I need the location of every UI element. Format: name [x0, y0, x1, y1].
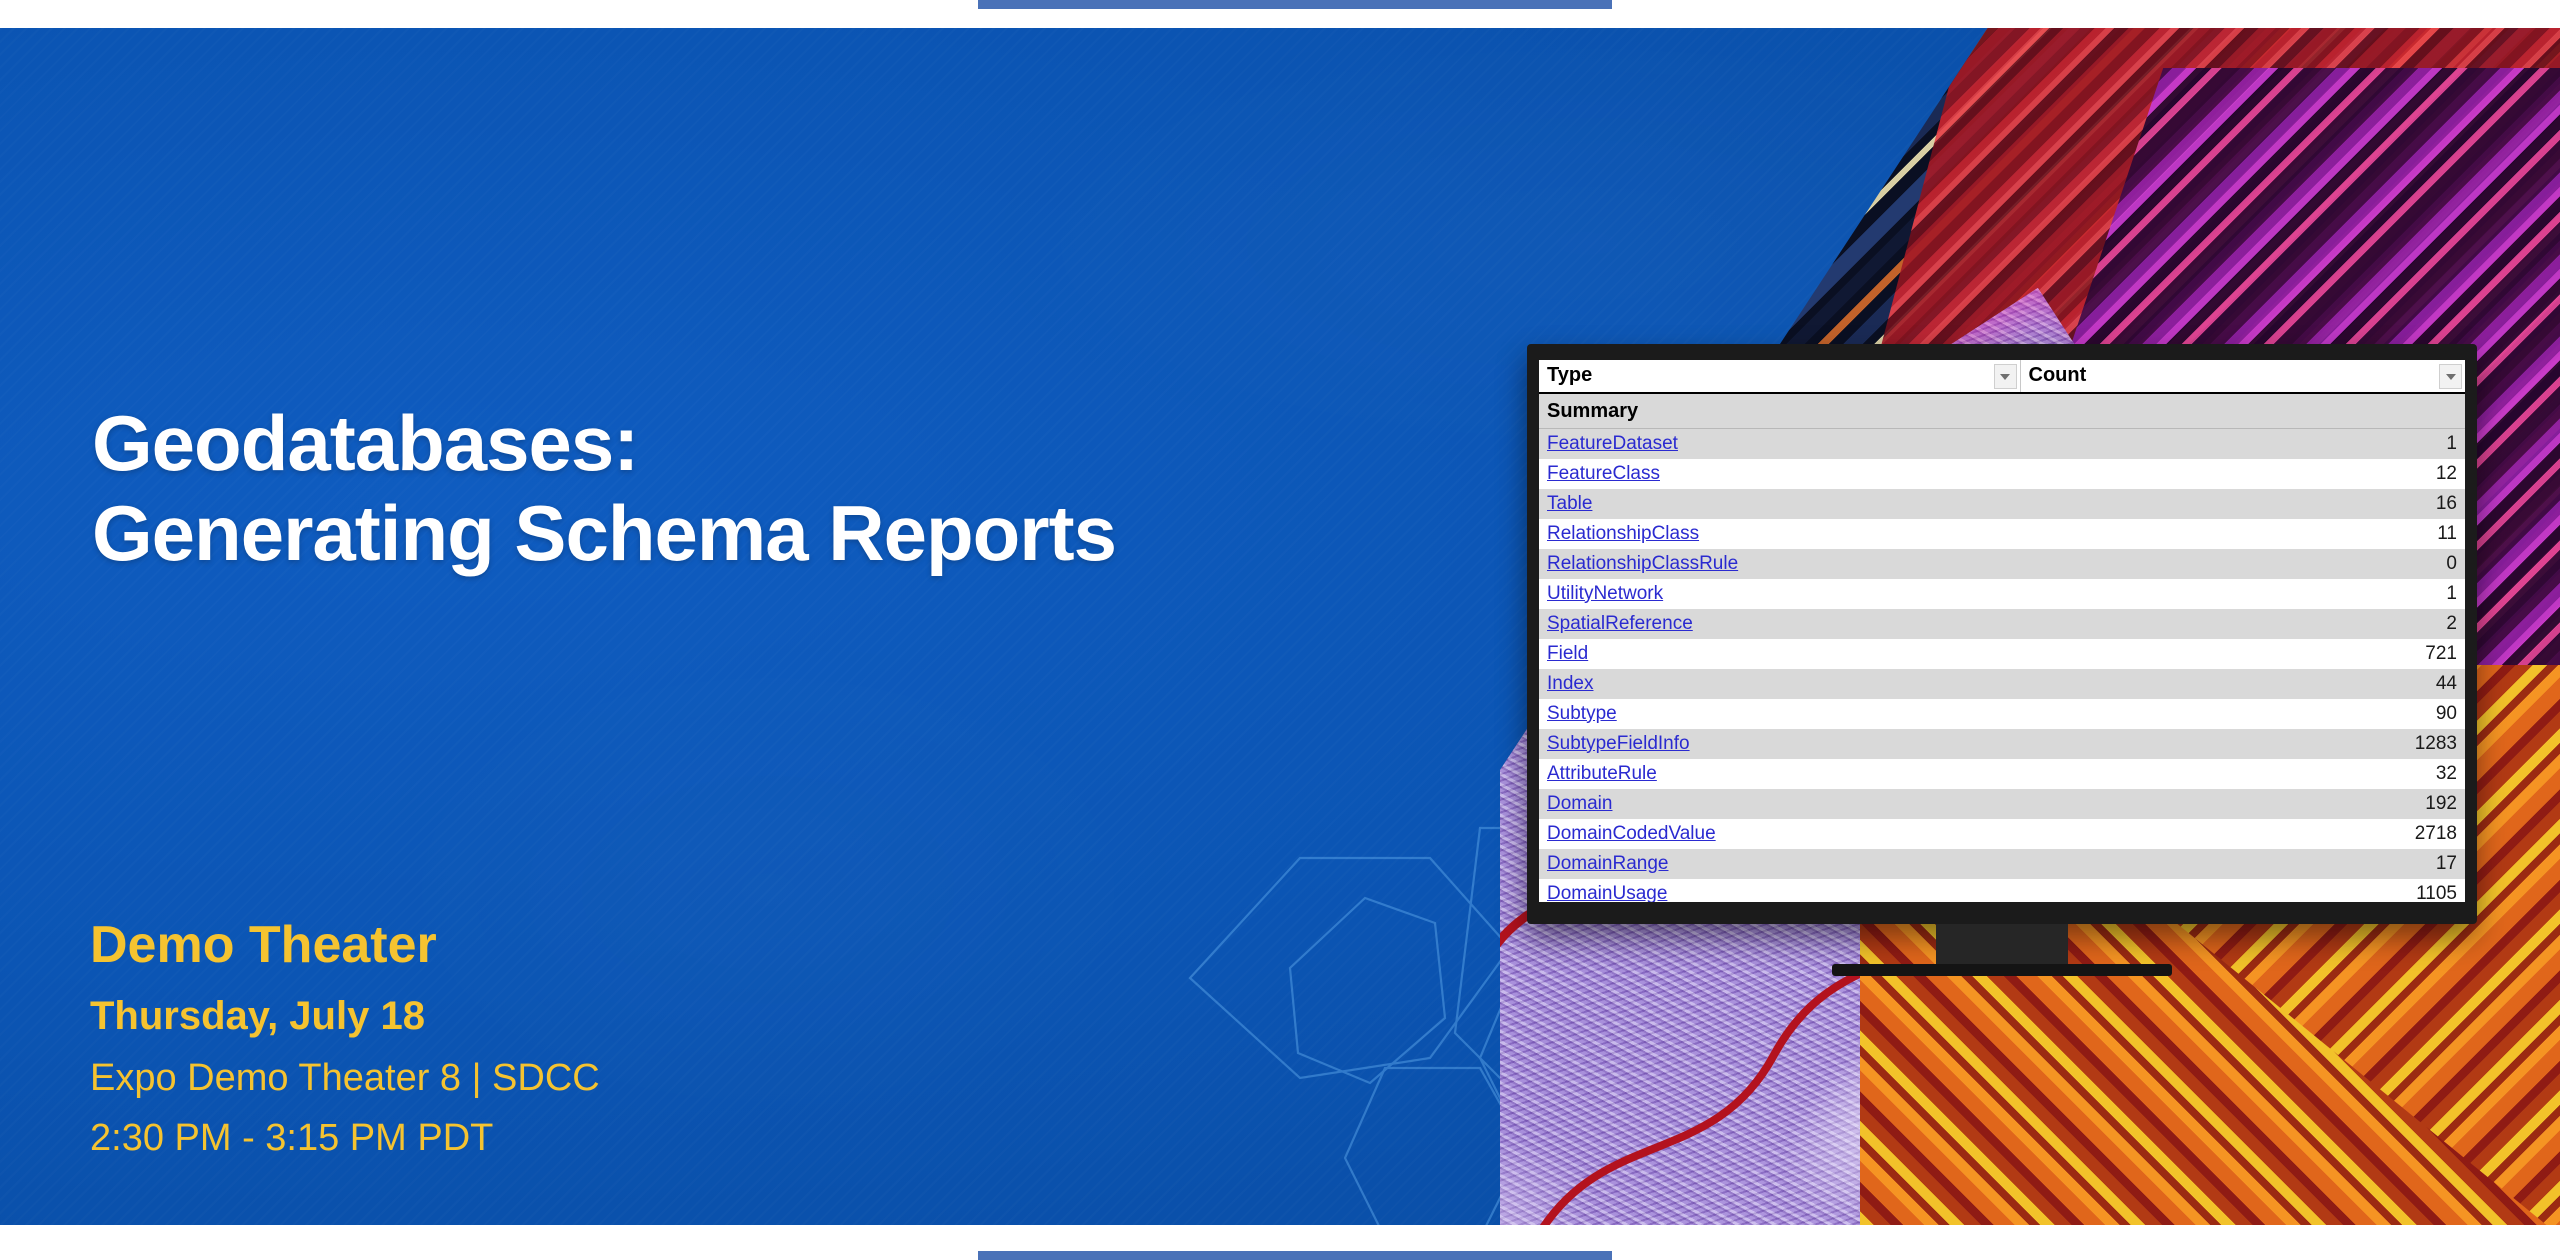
- screenshot-root: Geodatabases: Generating Schema Reports …: [0, 0, 2560, 1260]
- column-header-type-label: Type: [1547, 364, 1592, 386]
- table-row: DomainUsage1105: [1539, 879, 2465, 902]
- monitor-mockup: Summary Type Count: [1527, 344, 2477, 924]
- cell-type: DomainRange: [1539, 849, 2020, 879]
- cell-type: DomainUsage: [1539, 879, 2020, 902]
- table-row: SubtypeFieldInfo1283: [1539, 729, 2465, 759]
- chevron-down-icon-type-filter[interactable]: [1994, 364, 2017, 389]
- cell-type: Field: [1539, 639, 2020, 669]
- monitor-stand-base: [1832, 964, 2172, 976]
- presentation-slide: Geodatabases: Generating Schema Reports …: [0, 28, 2560, 1225]
- table-row: UtilityNetwork1: [1539, 579, 2465, 609]
- cell-type: RelationshipClass: [1539, 519, 2020, 549]
- schema-report-table: Summary Type Count: [1539, 360, 2465, 902]
- table-row: Domain192: [1539, 789, 2465, 819]
- cell-type: SubtypeFieldInfo: [1539, 729, 2020, 759]
- table-row: RelationshipClassRule0: [1539, 549, 2465, 579]
- report-title-row: Summary: [1539, 393, 2465, 429]
- session-venue: Expo Demo Theater 8 | SDCC: [90, 1058, 990, 1098]
- cell-count: 192: [2020, 789, 2465, 819]
- session-type: Demo Theater: [90, 918, 990, 973]
- cell-type: Index: [1539, 669, 2020, 699]
- title-line-1: Geodatabases:: [92, 399, 638, 487]
- chevron-down-icon-count-filter[interactable]: [2439, 364, 2462, 389]
- monitor-stand-neck: [1936, 924, 2068, 966]
- monitor-screen: Summary Type Count: [1539, 360, 2465, 902]
- type-link[interactable]: SpatialReference: [1547, 613, 1693, 634]
- cell-type: SpatialReference: [1539, 609, 2020, 639]
- slide-viewer-bar-bottom: [978, 1251, 1612, 1260]
- cell-type: AttributeRule: [1539, 759, 2020, 789]
- table-row: DomainRange17: [1539, 849, 2465, 879]
- cell-count: 2: [2020, 609, 2465, 639]
- table-row: Index44: [1539, 669, 2465, 699]
- type-link[interactable]: Index: [1547, 673, 1593, 694]
- cell-type: Table: [1539, 489, 2020, 519]
- type-link[interactable]: Subtype: [1547, 703, 1617, 724]
- type-link[interactable]: SubtypeFieldInfo: [1547, 733, 1690, 754]
- cell-count: 11: [2020, 519, 2465, 549]
- cell-count: 2718: [2020, 819, 2465, 849]
- column-header-count-label: Count: [2029, 364, 2087, 386]
- type-link[interactable]: FeatureClass: [1547, 463, 1660, 484]
- table-row: AttributeRule32: [1539, 759, 2465, 789]
- type-link[interactable]: UtilityNetwork: [1547, 583, 1663, 604]
- cell-count: 721: [2020, 639, 2465, 669]
- table-body: FeatureDataset1FeatureClass12Table16Rela…: [1539, 429, 2465, 903]
- type-link[interactable]: DomainRange: [1547, 853, 1668, 874]
- type-link[interactable]: Table: [1547, 493, 1592, 514]
- cell-count: 44: [2020, 669, 2465, 699]
- table-row: Subtype90: [1539, 699, 2465, 729]
- table-row: SpatialReference2: [1539, 609, 2465, 639]
- cell-count: 16: [2020, 489, 2465, 519]
- type-link[interactable]: RelationshipClassRule: [1547, 553, 1738, 574]
- cell-count: 90: [2020, 699, 2465, 729]
- cell-type: FeatureDataset: [1539, 429, 2020, 460]
- type-link[interactable]: DomainCodedValue: [1547, 823, 1716, 844]
- cell-count: 1: [2020, 579, 2465, 609]
- title-line-2: Generating Schema Reports: [92, 488, 1472, 578]
- report-title: Summary: [1539, 393, 2465, 429]
- column-header-count: Count: [2020, 360, 2465, 393]
- type-link[interactable]: RelationshipClass: [1547, 523, 1699, 544]
- session-time: 2:30 PM - 3:15 PM PDT: [90, 1118, 990, 1158]
- cell-type: DomainCodedValue: [1539, 819, 2020, 849]
- session-date: Thursday, July 18: [90, 995, 990, 1037]
- event-details: Demo Theater Thursday, July 18 Expo Demo…: [90, 918, 990, 1158]
- type-link[interactable]: AttributeRule: [1547, 763, 1657, 784]
- cell-count: 1283: [2020, 729, 2465, 759]
- page-title: Geodatabases: Generating Schema Reports: [92, 398, 1472, 579]
- type-link[interactable]: Field: [1547, 643, 1588, 664]
- slide-viewer-bar-top: [978, 0, 1612, 9]
- type-link[interactable]: DomainUsage: [1547, 883, 1667, 903]
- type-link[interactable]: Domain: [1547, 793, 1612, 814]
- cell-count: 1105: [2020, 879, 2465, 902]
- cell-count: 32: [2020, 759, 2465, 789]
- cell-type: Domain: [1539, 789, 2020, 819]
- cell-count: 12: [2020, 459, 2465, 489]
- cell-type: Subtype: [1539, 699, 2020, 729]
- cell-type: RelationshipClassRule: [1539, 549, 2020, 579]
- cell-count: 0: [2020, 549, 2465, 579]
- table-row: RelationshipClass11: [1539, 519, 2465, 549]
- type-link[interactable]: FeatureDataset: [1547, 433, 1678, 454]
- table-row: Table16: [1539, 489, 2465, 519]
- table-header-row: Type Count: [1539, 360, 2465, 393]
- table-row: Field721: [1539, 639, 2465, 669]
- cell-count: 17: [2020, 849, 2465, 879]
- cell-count: 1: [2020, 429, 2465, 460]
- table-row: FeatureClass12: [1539, 459, 2465, 489]
- column-header-type: Type: [1539, 360, 2020, 393]
- table-row: DomainCodedValue2718: [1539, 819, 2465, 849]
- cell-type: UtilityNetwork: [1539, 579, 2020, 609]
- table-row: FeatureDataset1: [1539, 429, 2465, 460]
- cell-type: FeatureClass: [1539, 459, 2020, 489]
